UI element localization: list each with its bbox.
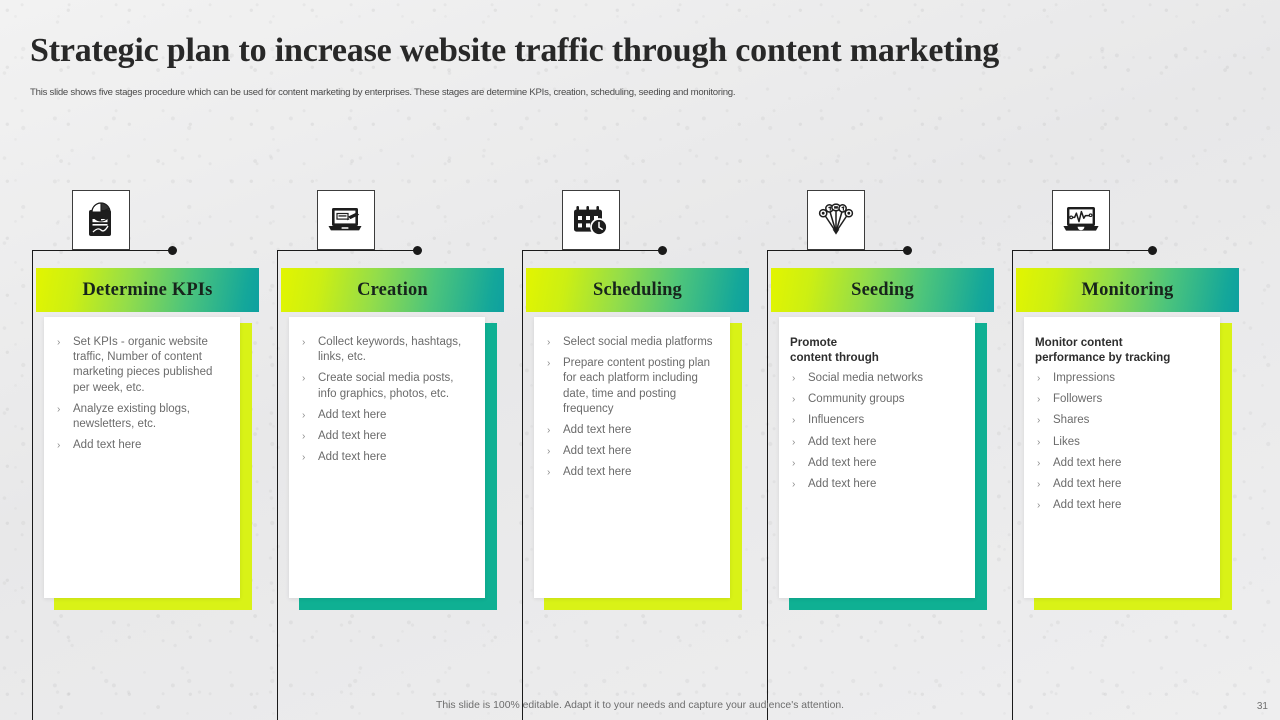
list-item-label: Likes: [1053, 436, 1080, 448]
list-item-label: Add text here: [318, 451, 386, 463]
stage-bullet-list: ›Set KPIs - organic website traffic, Num…: [55, 335, 228, 453]
stage-content-card: ›Set KPIs - organic website traffic, Num…: [44, 317, 240, 598]
list-item-label: Impressions: [1053, 372, 1115, 384]
chevron-right-icon: ›: [57, 402, 60, 417]
stage-connector-line: [522, 250, 662, 251]
stage-title-label: Creation: [357, 280, 428, 301]
list-item-label: Followers: [1053, 393, 1102, 405]
list-item[interactable]: ›Add text here: [790, 477, 963, 492]
list-item[interactable]: ›Prepare content posting plan for each p…: [545, 356, 718, 417]
page-subtitle: This slide shows five stages procedure w…: [30, 86, 1130, 100]
list-item[interactable]: ›Followers: [1035, 392, 1208, 407]
list-item-label: Add text here: [318, 409, 386, 421]
list-item[interactable]: ›Add text here: [300, 429, 473, 444]
list-item-label: Prepare content posting plan for each pl…: [563, 357, 710, 415]
stage-connector-dot: [1148, 246, 1157, 255]
clipboard-pie-chart-icon: [84, 202, 118, 238]
slide-canvas: Strategic plan to increase website traff…: [0, 0, 1280, 720]
list-item-label: Add text here: [318, 430, 386, 442]
chevron-right-icon: ›: [302, 450, 305, 465]
page-number: 31: [1257, 701, 1268, 712]
list-item-label: Select social media platforms: [563, 336, 713, 348]
stage-content-card: Promote content through›Social media net…: [779, 317, 975, 598]
list-item[interactable]: ›Likes: [1035, 435, 1208, 450]
chevron-right-icon: ›: [792, 435, 795, 450]
chevron-right-icon: ›: [1037, 413, 1040, 428]
list-item-label: Set KPIs - organic website traffic, Numb…: [73, 336, 212, 394]
stage-connector-line: [277, 250, 417, 251]
list-item[interactable]: ›Create social media posts, info graphic…: [300, 371, 473, 401]
stage-content-card: ›Collect keywords, hashtags, links, etc.…: [289, 317, 485, 598]
chevron-right-icon: ›: [57, 335, 60, 350]
list-item-label: Add text here: [808, 457, 876, 469]
page-title: Strategic plan to increase website traff…: [30, 28, 1240, 74]
stage-content-card: Monitor content performance by tracking›…: [1024, 317, 1220, 598]
stage-card-heading: Promote content through: [790, 335, 963, 365]
list-item-label: Social media networks: [808, 372, 923, 384]
chevron-right-icon: ›: [302, 371, 305, 386]
footer-note: This slide is 100% editable. Adapt it to…: [0, 700, 1280, 711]
list-item-label: Community groups: [808, 393, 905, 405]
list-item[interactable]: ›Add text here: [545, 423, 718, 438]
list-item[interactable]: ›Add text here: [1035, 477, 1208, 492]
list-item-label: Add text here: [563, 424, 631, 436]
chevron-right-icon: ›: [302, 429, 305, 444]
list-item-label: Shares: [1053, 414, 1089, 426]
chevron-right-icon: ›: [547, 423, 550, 438]
chevron-right-icon: ›: [1037, 435, 1040, 450]
chevron-right-icon: ›: [547, 444, 550, 459]
stage-connector-line: [32, 250, 172, 251]
stage-content-card: ›Select social media platforms›Prepare c…: [534, 317, 730, 598]
stage-card-heading: Monitor content performance by tracking: [1035, 335, 1208, 365]
laptop-pulse-icon: [1062, 204, 1100, 236]
stage-bullet-list: ›Collect keywords, hashtags, links, etc.…: [300, 335, 473, 465]
chevron-right-icon: ›: [1037, 477, 1040, 492]
list-item[interactable]: ›Social media networks: [790, 371, 963, 386]
list-item-label: Analyze existing blogs, newsletters, etc…: [73, 403, 190, 430]
list-item-label: Add text here: [808, 478, 876, 490]
list-item[interactable]: ›Analyze existing blogs, newsletters, et…: [55, 402, 228, 432]
stage-connector-dot: [168, 246, 177, 255]
stage-title-label: Scheduling: [593, 280, 682, 301]
chevron-right-icon: ›: [792, 392, 795, 407]
stage-title-label: Seeding: [851, 280, 914, 301]
stage-connector-line: [1012, 250, 1152, 251]
list-item[interactable]: ›Select social media platforms: [545, 335, 718, 350]
list-item[interactable]: ›Add text here: [790, 456, 963, 471]
chevron-right-icon: ›: [547, 335, 550, 350]
chevron-right-icon: ›: [792, 371, 795, 386]
stage-icon-tile[interactable]: [72, 190, 130, 250]
list-item[interactable]: ›Collect keywords, hashtags, links, etc.: [300, 335, 473, 365]
stage-connector-dot: [658, 246, 667, 255]
list-item[interactable]: ›Add text here: [300, 408, 473, 423]
list-item[interactable]: ›Add text here: [300, 450, 473, 465]
stage-bullet-list: ›Select social media platforms›Prepare c…: [545, 335, 718, 481]
chevron-right-icon: ›: [792, 477, 795, 492]
list-item-label: Add text here: [1053, 478, 1121, 490]
stage-icon-tile[interactable]: [317, 190, 375, 250]
chevron-right-icon: ›: [547, 465, 550, 480]
list-item-label: Add text here: [1053, 457, 1121, 469]
list-item[interactable]: ›Add text here: [1035, 456, 1208, 471]
chevron-right-icon: ›: [57, 438, 60, 453]
list-item-label: Add text here: [563, 466, 631, 478]
chevron-right-icon: ›: [1037, 456, 1040, 471]
chevron-right-icon: ›: [1037, 371, 1040, 386]
list-item[interactable]: ›Set KPIs - organic website traffic, Num…: [55, 335, 228, 396]
chevron-right-icon: ›: [792, 456, 795, 471]
list-item[interactable]: ›Add text here: [55, 438, 228, 453]
stage-icon-tile[interactable]: [1052, 190, 1110, 250]
calendar-clock-icon: [573, 203, 609, 237]
chevron-right-icon: ›: [302, 408, 305, 423]
chevron-right-icon: ›: [792, 413, 795, 428]
list-item[interactable]: ›Add text here: [545, 444, 718, 459]
list-item-label: Create social media posts, info graphics…: [318, 372, 454, 399]
chevron-right-icon: ›: [1037, 498, 1040, 513]
stage-connector-dot: [903, 246, 912, 255]
list-item[interactable]: ›Add text here: [545, 465, 718, 480]
stage-title-bar[interactable]: Determine KPIs: [36, 268, 259, 312]
list-item-label: Add text here: [808, 436, 876, 448]
list-item-label: Influencers: [808, 414, 864, 426]
list-item[interactable]: ›Add text here: [790, 435, 963, 450]
stage-title-bar[interactable]: Creation: [281, 268, 504, 312]
stage-icon-tile[interactable]: [807, 190, 865, 250]
stage-connector-dot: [413, 246, 422, 255]
list-item-label: Collect keywords, hashtags, links, etc.: [318, 336, 461, 363]
stage-title-bar[interactable]: Scheduling: [526, 268, 749, 312]
chevron-right-icon: ›: [547, 356, 550, 371]
stage-bullet-list: ›Impressions›Followers›Shares›Likes›Add …: [1035, 371, 1208, 513]
list-item-label: Add text here: [1053, 499, 1121, 511]
stage-title-bar[interactable]: Monitoring: [1016, 268, 1239, 312]
stage-icon-tile[interactable]: [562, 190, 620, 250]
list-item[interactable]: ›Influencers: [790, 413, 963, 428]
stage-title-bar[interactable]: Seeding: [771, 268, 994, 312]
stage-title-label: Monitoring: [1082, 280, 1174, 301]
stage-title-label: Determine KPIs: [82, 280, 212, 301]
social-seeding-icon: [817, 203, 855, 237]
chevron-right-icon: ›: [1037, 392, 1040, 407]
list-item[interactable]: ›Shares: [1035, 413, 1208, 428]
chevron-right-icon: ›: [302, 335, 305, 350]
laptop-pen-icon: [327, 204, 365, 236]
list-item[interactable]: ›Community groups: [790, 392, 963, 407]
list-item[interactable]: ›Add text here: [1035, 498, 1208, 513]
list-item-label: Add text here: [563, 445, 631, 457]
stage-bullet-list: ›Social media networks›Community groups›…: [790, 371, 963, 492]
list-item[interactable]: ›Impressions: [1035, 371, 1208, 386]
stage-connector-line: [767, 250, 907, 251]
list-item-label: Add text here: [73, 439, 141, 451]
